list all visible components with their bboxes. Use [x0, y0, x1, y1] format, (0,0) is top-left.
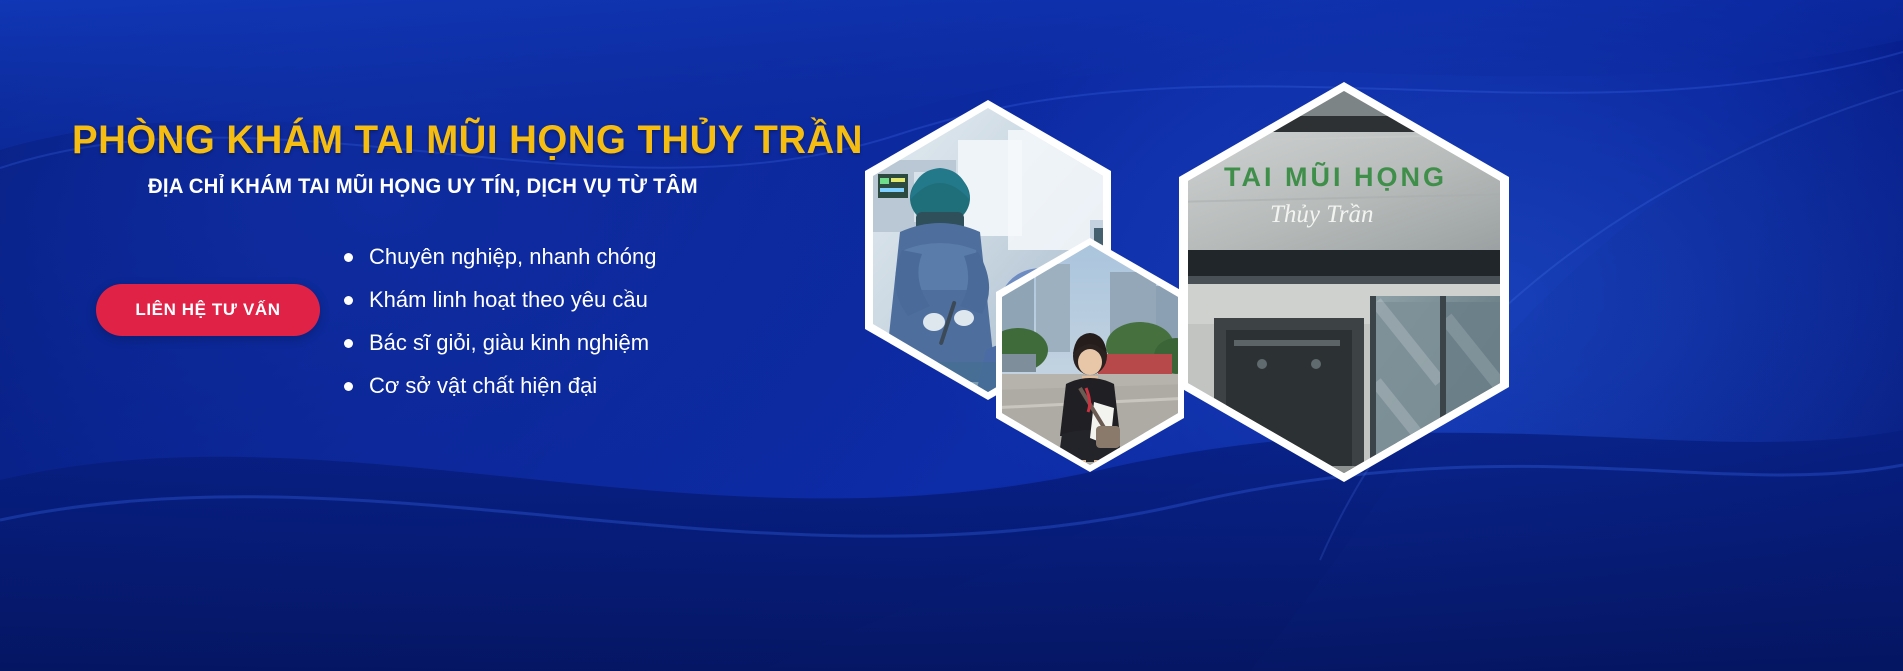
sign-line-1: TAI MŨI HỌNG [1224, 161, 1447, 192]
contact-consult-button[interactable]: LIÊN HỆ TƯ VẤN [96, 284, 320, 336]
feature-list: Chuyên nghiệp, nhanh chóng Khám linh hoạ… [344, 236, 656, 408]
list-item: Khám linh hoạt theo yêu cầu [344, 279, 656, 321]
clinic-front-photo: TAI MŨI HỌNG Thủy Trần [1174, 82, 1514, 482]
bullet-dot-icon [344, 339, 353, 348]
feature-label: Cơ sở vật chất hiện đại [369, 373, 597, 399]
feature-label: Chuyên nghiệp, nhanh chóng [369, 244, 656, 270]
bullet-dot-icon [344, 296, 353, 305]
patient-photo [990, 238, 1190, 472]
feature-label: Khám linh hoạt theo yêu cầu [369, 287, 648, 313]
banner-text-column: PHÒNG KHÁM TAI MŨI HỌNG THỦY TRẦN ĐỊA CH… [0, 0, 880, 671]
sign-line-2: Thủy Trần [1270, 201, 1374, 228]
feature-label: Bác sĩ giỏi, giàu kinh nghiệm [369, 330, 649, 356]
bullet-dot-icon [344, 382, 353, 391]
list-item: Cơ sở vật chất hiện đại [344, 365, 656, 407]
page-title: PHÒNG KHÁM TAI MŨI HỌNG THỦY TRẦN [72, 118, 863, 163]
bullet-dot-icon [344, 253, 353, 262]
list-item: Bác sĩ giỏi, giàu kinh nghiệm [344, 322, 656, 364]
promo-banner: PHÒNG KHÁM TAI MŨI HỌNG THỦY TRẦN ĐỊA CH… [0, 0, 1903, 671]
list-item: Chuyên nghiệp, nhanh chóng [344, 236, 656, 278]
page-subtitle: ĐỊA CHỈ KHÁM TAI MŨI HỌNG UY TÍN, DỊCH V… [148, 175, 698, 199]
